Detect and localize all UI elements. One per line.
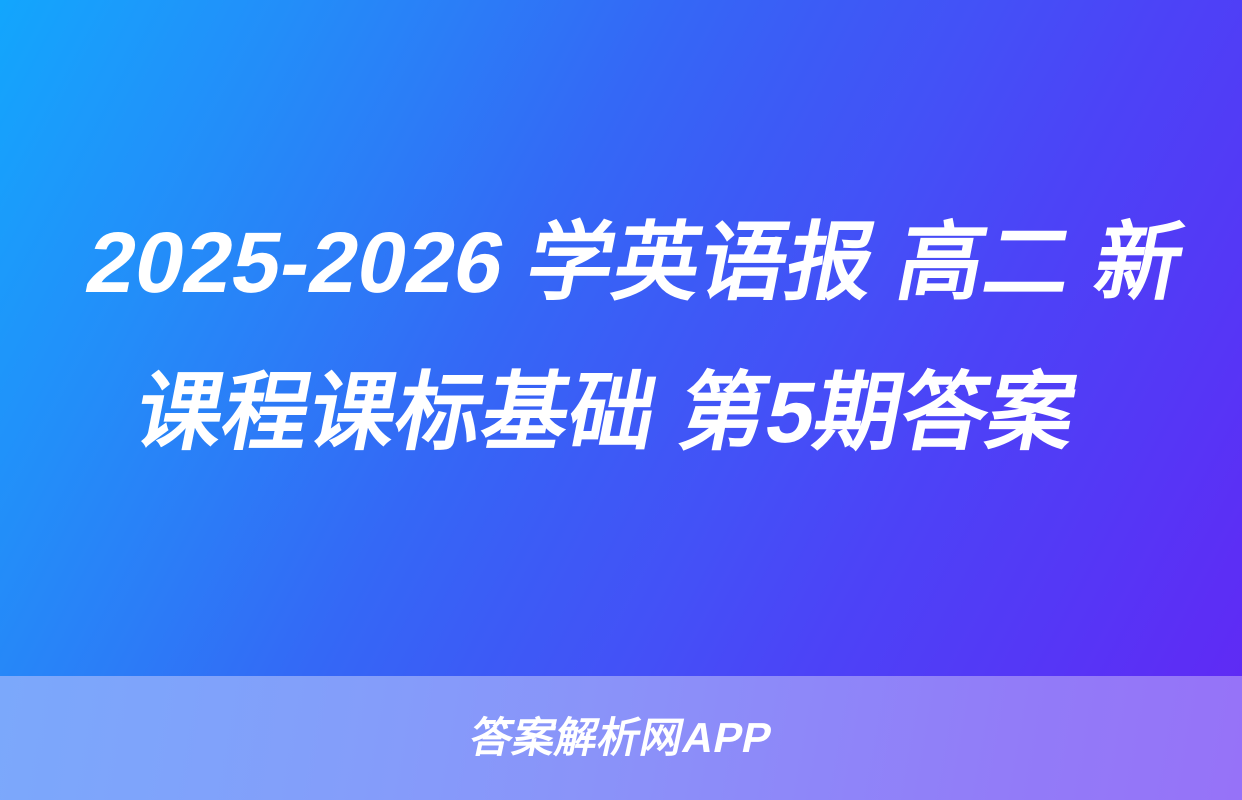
footer-watermark-band: 答案解析网APP <box>0 676 1242 800</box>
poster-canvas: 2025-2026 学英语报 高二 新课程课标基础 第5期答案 答案解析网APP <box>0 0 1242 800</box>
brand-watermark: 答案解析网APP <box>466 717 775 759</box>
page-title: 2025-2026 学英语报 高二 新课程课标基础 第5期答案 <box>11 188 1231 488</box>
headline-stage: 2025-2026 学英语报 高二 新课程课标基础 第5期答案 <box>0 0 1242 676</box>
